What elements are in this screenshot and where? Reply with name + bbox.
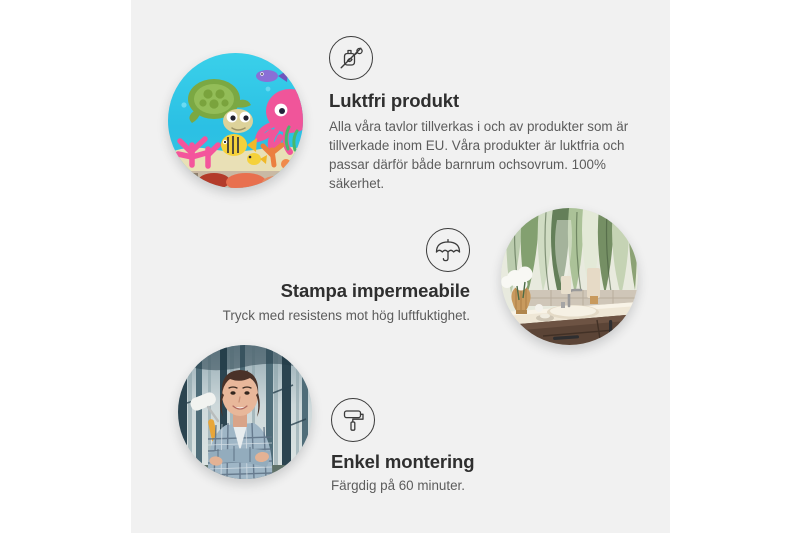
- feature-odour-free: Luktfri produkt Alla våra tavlor tillver…: [329, 36, 629, 193]
- feature-description: Tryck med resistens mot hög luftfuktighe…: [212, 306, 470, 325]
- feature-waterproof: Stampa impermeabile Tryck med resistens …: [212, 228, 470, 325]
- feature-title: Stampa impermeabile: [212, 279, 470, 302]
- feature-description: Alla våra tavlor tillverkas i och av pro…: [329, 117, 629, 193]
- feature-description: Färgdig på 60 minuter.: [331, 476, 591, 495]
- no-fragrance-icon: [329, 36, 373, 80]
- infographic-canvas: Luktfri produkt Alla våra tavlor tillver…: [0, 0, 800, 533]
- underwater-cartoon-mural-photo: [168, 53, 303, 188]
- umbrella-icon: [426, 228, 470, 272]
- woman-with-paint-roller-forest-photo: [178, 345, 312, 479]
- feature-easy-assembly: Enkel montering Färgdig på 60 minuter.: [331, 398, 591, 495]
- feature-title: Luktfri produkt: [329, 89, 629, 112]
- feature-title: Enkel montering: [331, 450, 591, 473]
- paint-roller-icon: [331, 398, 375, 442]
- bathroom-tropical-wallpaper-photo: [501, 208, 638, 345]
